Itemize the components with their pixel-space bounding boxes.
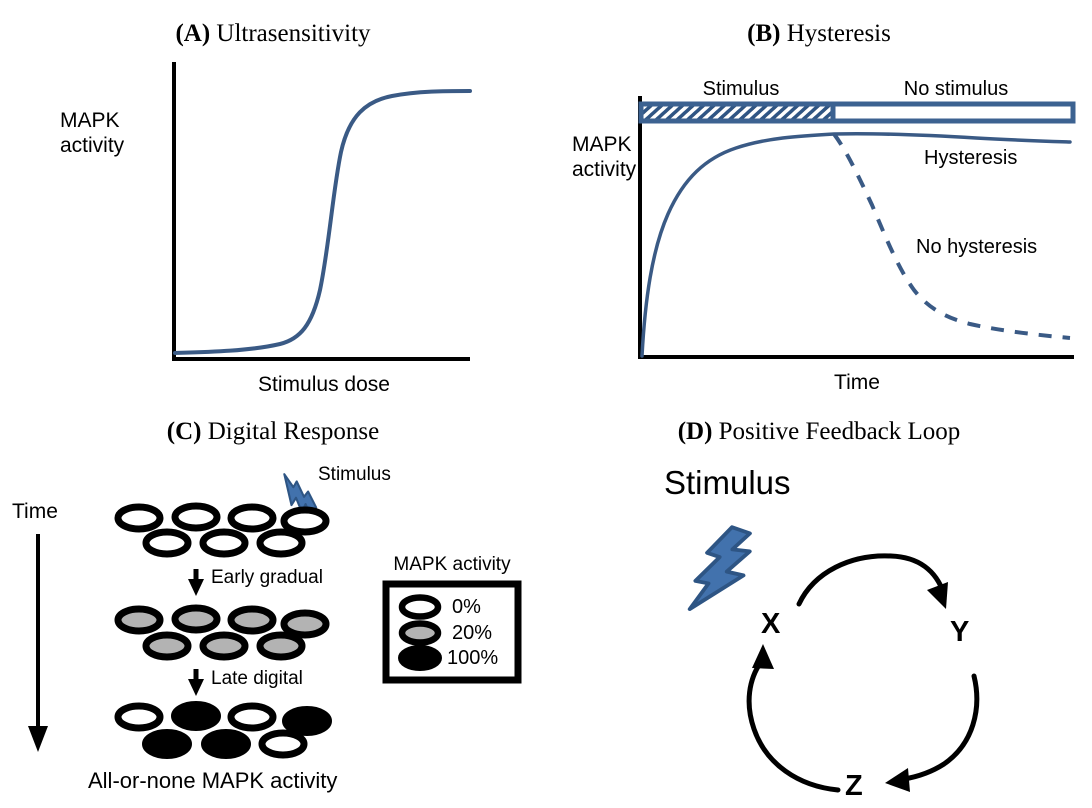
stimulus-lightning-bolt-icon [686, 522, 757, 622]
legend-swatch-20-percent [402, 624, 438, 643]
cell [143, 730, 191, 758]
edge-z-to-x [749, 644, 838, 790]
cell [118, 507, 160, 529]
legend-swatch-0-percent [402, 598, 438, 617]
edge-x-to-y [799, 556, 948, 609]
stimulus-bar-off-segment [833, 104, 1073, 121]
cell [175, 608, 217, 630]
node-label-x: X [761, 608, 780, 641]
cell [118, 706, 160, 728]
legend-label-100-percent: 100% [447, 647, 498, 670]
legend-label-0-percent: 0% [452, 596, 481, 619]
panel-c-arrow-early-gradual [188, 569, 204, 596]
panel-d-positive-feedback-loop: (D) Positive Feedback Loop Stimulus [546, 404, 1092, 808]
stimulus-bar-on-segment [641, 104, 833, 121]
legend-label-20-percent: 20% [452, 622, 492, 645]
cell [203, 635, 245, 657]
cell [260, 532, 302, 554]
node-label-z: Z [845, 770, 863, 803]
panel-a-sigmoid-curve [175, 91, 470, 353]
cell [231, 507, 273, 529]
panel-b-no-hysteresis-annotation: No hysteresis [916, 236, 1037, 259]
panel-b-stimulus-bar [641, 104, 1073, 121]
panel-c-arrow1-label: Early gradual [211, 567, 323, 589]
cell [202, 730, 250, 758]
cell [146, 635, 188, 657]
cell-group-late-digital [118, 702, 331, 758]
figure-root: (A) Ultrasensitivity MAPK activity Stimu… [0, 0, 1092, 808]
cell-group-early-gradual [118, 608, 326, 657]
panel-c-arrow2-label: Late digital [211, 668, 303, 690]
panel-c-arrow-late-digital [188, 669, 204, 696]
cell [262, 733, 304, 755]
cell [231, 609, 273, 631]
cell [231, 706, 273, 728]
cell [260, 635, 302, 657]
panel-d-diagram [546, 404, 1092, 808]
panel-a-x-axis-label: Stimulus dose [174, 372, 474, 397]
panel-c-legend-title: MAPK activity [386, 554, 518, 576]
edge-y-to-z [885, 676, 977, 792]
cell [284, 510, 326, 532]
panel-b-x-axis-label: Time [640, 370, 1074, 395]
legend-swatch-100-percent [399, 646, 441, 670]
cell [175, 506, 217, 528]
panel-c-caption: All-or-none MAPK activity [88, 768, 337, 794]
cell-group-before-stimulus [118, 506, 326, 554]
panel-a-ultrasensitivity: (A) Ultrasensitivity MAPK activity Stimu… [0, 0, 546, 404]
panel-b-plot [546, 0, 1092, 404]
cell [172, 702, 220, 730]
panel-c-time-arrow [28, 534, 48, 752]
node-label-y: Y [950, 616, 969, 649]
panel-b-hysteresis: (B) Hysteresis Stimulus No stimulus MAPK… [546, 0, 1092, 404]
panel-c-digital-response: (C) Digital Response Stimulus Time [0, 404, 546, 808]
cell [118, 609, 160, 631]
cell [284, 613, 326, 635]
cell [203, 532, 245, 554]
panel-b-hysteresis-annotation: Hysteresis [924, 147, 1017, 170]
cell [146, 532, 188, 554]
panel-a-plot [0, 0, 546, 404]
